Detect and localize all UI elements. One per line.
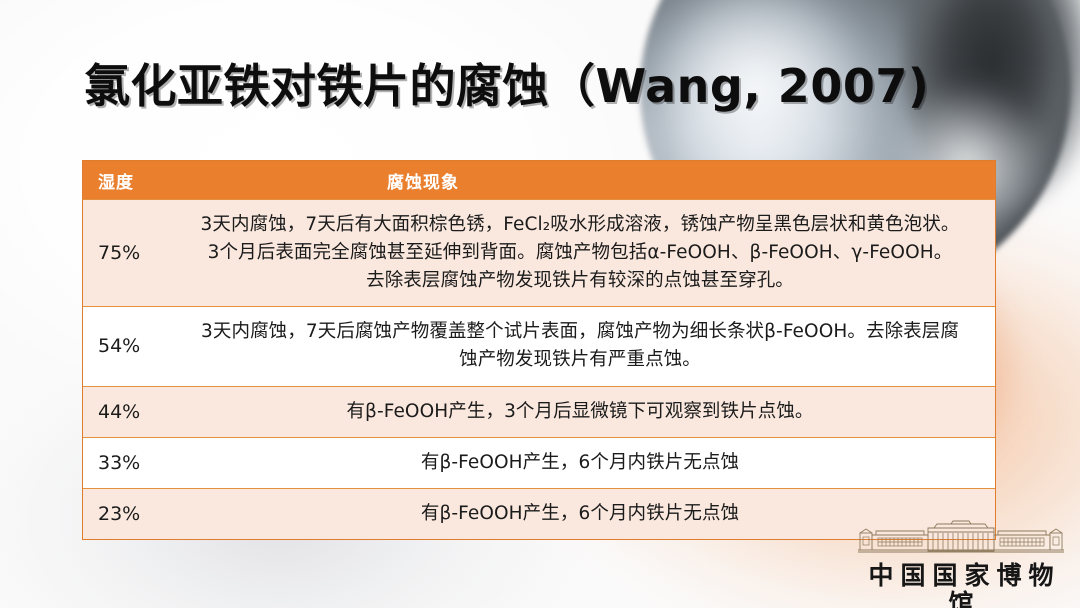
cell-line: 3天内腐蚀，7天后有大面积棕色锈，FeCl₂吸水形成溶液，锈蚀产物呈黑色层状和黄… (179, 211, 981, 239)
cell-humidity: 23% (83, 503, 171, 525)
table-row: 54% 3天内腐蚀，7天后腐蚀产物覆盖整个试片表面，腐蚀产物为细长条状β-FeO… (83, 306, 995, 385)
table-row: 75% 3天内腐蚀，7天后有大面积棕色锈，FeCl₂吸水形成溶液，锈蚀产物呈黑色… (83, 199, 995, 306)
cell-line: 去除表层腐蚀产物发现铁片有较深的点蚀甚至穿孔。 (179, 267, 981, 295)
cell-humidity: 54% (83, 335, 171, 357)
presentation-slide: 氯化亚铁对铁片的腐蚀（Wang, 2007) 湿度 腐蚀现象 75% 3天内腐蚀… (0, 0, 1080, 608)
cell-phenomenon: 有β-FeOOH产生，6个月内铁片无点蚀 (171, 438, 995, 488)
cell-line: 蚀产物发现铁片有严重点蚀。 (179, 346, 981, 374)
table-header-row: 湿度 腐蚀现象 (83, 161, 995, 199)
cell-humidity: 44% (83, 401, 171, 423)
corrosion-table: 湿度 腐蚀现象 75% 3天内腐蚀，7天后有大面积棕色锈，FeCl₂吸水形成溶液… (82, 160, 996, 540)
cell-phenomenon: 3天内腐蚀，7天后腐蚀产物覆盖整个试片表面，腐蚀产物为细长条状β-FeOOH。去… (171, 307, 995, 385)
cell-line: 3个月后表面完全腐蚀甚至延伸到背面。腐蚀产物包括α-FeOOH、β-FeOOH、… (179, 239, 981, 267)
slide-title: 氯化亚铁对铁片的腐蚀（Wang, 2007) (84, 50, 929, 116)
column-header-humidity: 湿度 (83, 168, 171, 193)
cell-line: 3天内腐蚀，7天后腐蚀产物覆盖整个试片表面，腐蚀产物为细长条状β-FeOOH。去… (179, 318, 981, 346)
museum-name-chinese: 中国国家博物馆 (853, 562, 1069, 608)
column-header-phenomenon: 腐蚀现象 (171, 168, 995, 193)
cell-phenomenon: 3天内腐蚀，7天后有大面积棕色锈，FeCl₂吸水形成溶液，锈蚀产物呈黑色层状和黄… (171, 200, 995, 306)
cell-humidity: 33% (83, 452, 171, 474)
cell-humidity: 75% (83, 242, 171, 264)
cell-line: 有β-FeOOH产生，3个月后显微镜下可观察到铁片点蚀。 (179, 398, 981, 426)
table-row: 44% 有β-FeOOH产生，3个月后显微镜下可观察到铁片点蚀。 (83, 386, 995, 437)
cell-line: 有β-FeOOH产生，6个月内铁片无点蚀 (179, 449, 981, 477)
museum-building-icon (856, 519, 1066, 561)
museum-logo: 中国国家博物馆 NATIONAL MUSEUM OF CHINA (853, 519, 1069, 608)
cell-phenomenon: 有β-FeOOH产生，3个月后显微镜下可观察到铁片点蚀。 (171, 387, 995, 437)
table-row: 33% 有β-FeOOH产生，6个月内铁片无点蚀 (83, 437, 995, 488)
